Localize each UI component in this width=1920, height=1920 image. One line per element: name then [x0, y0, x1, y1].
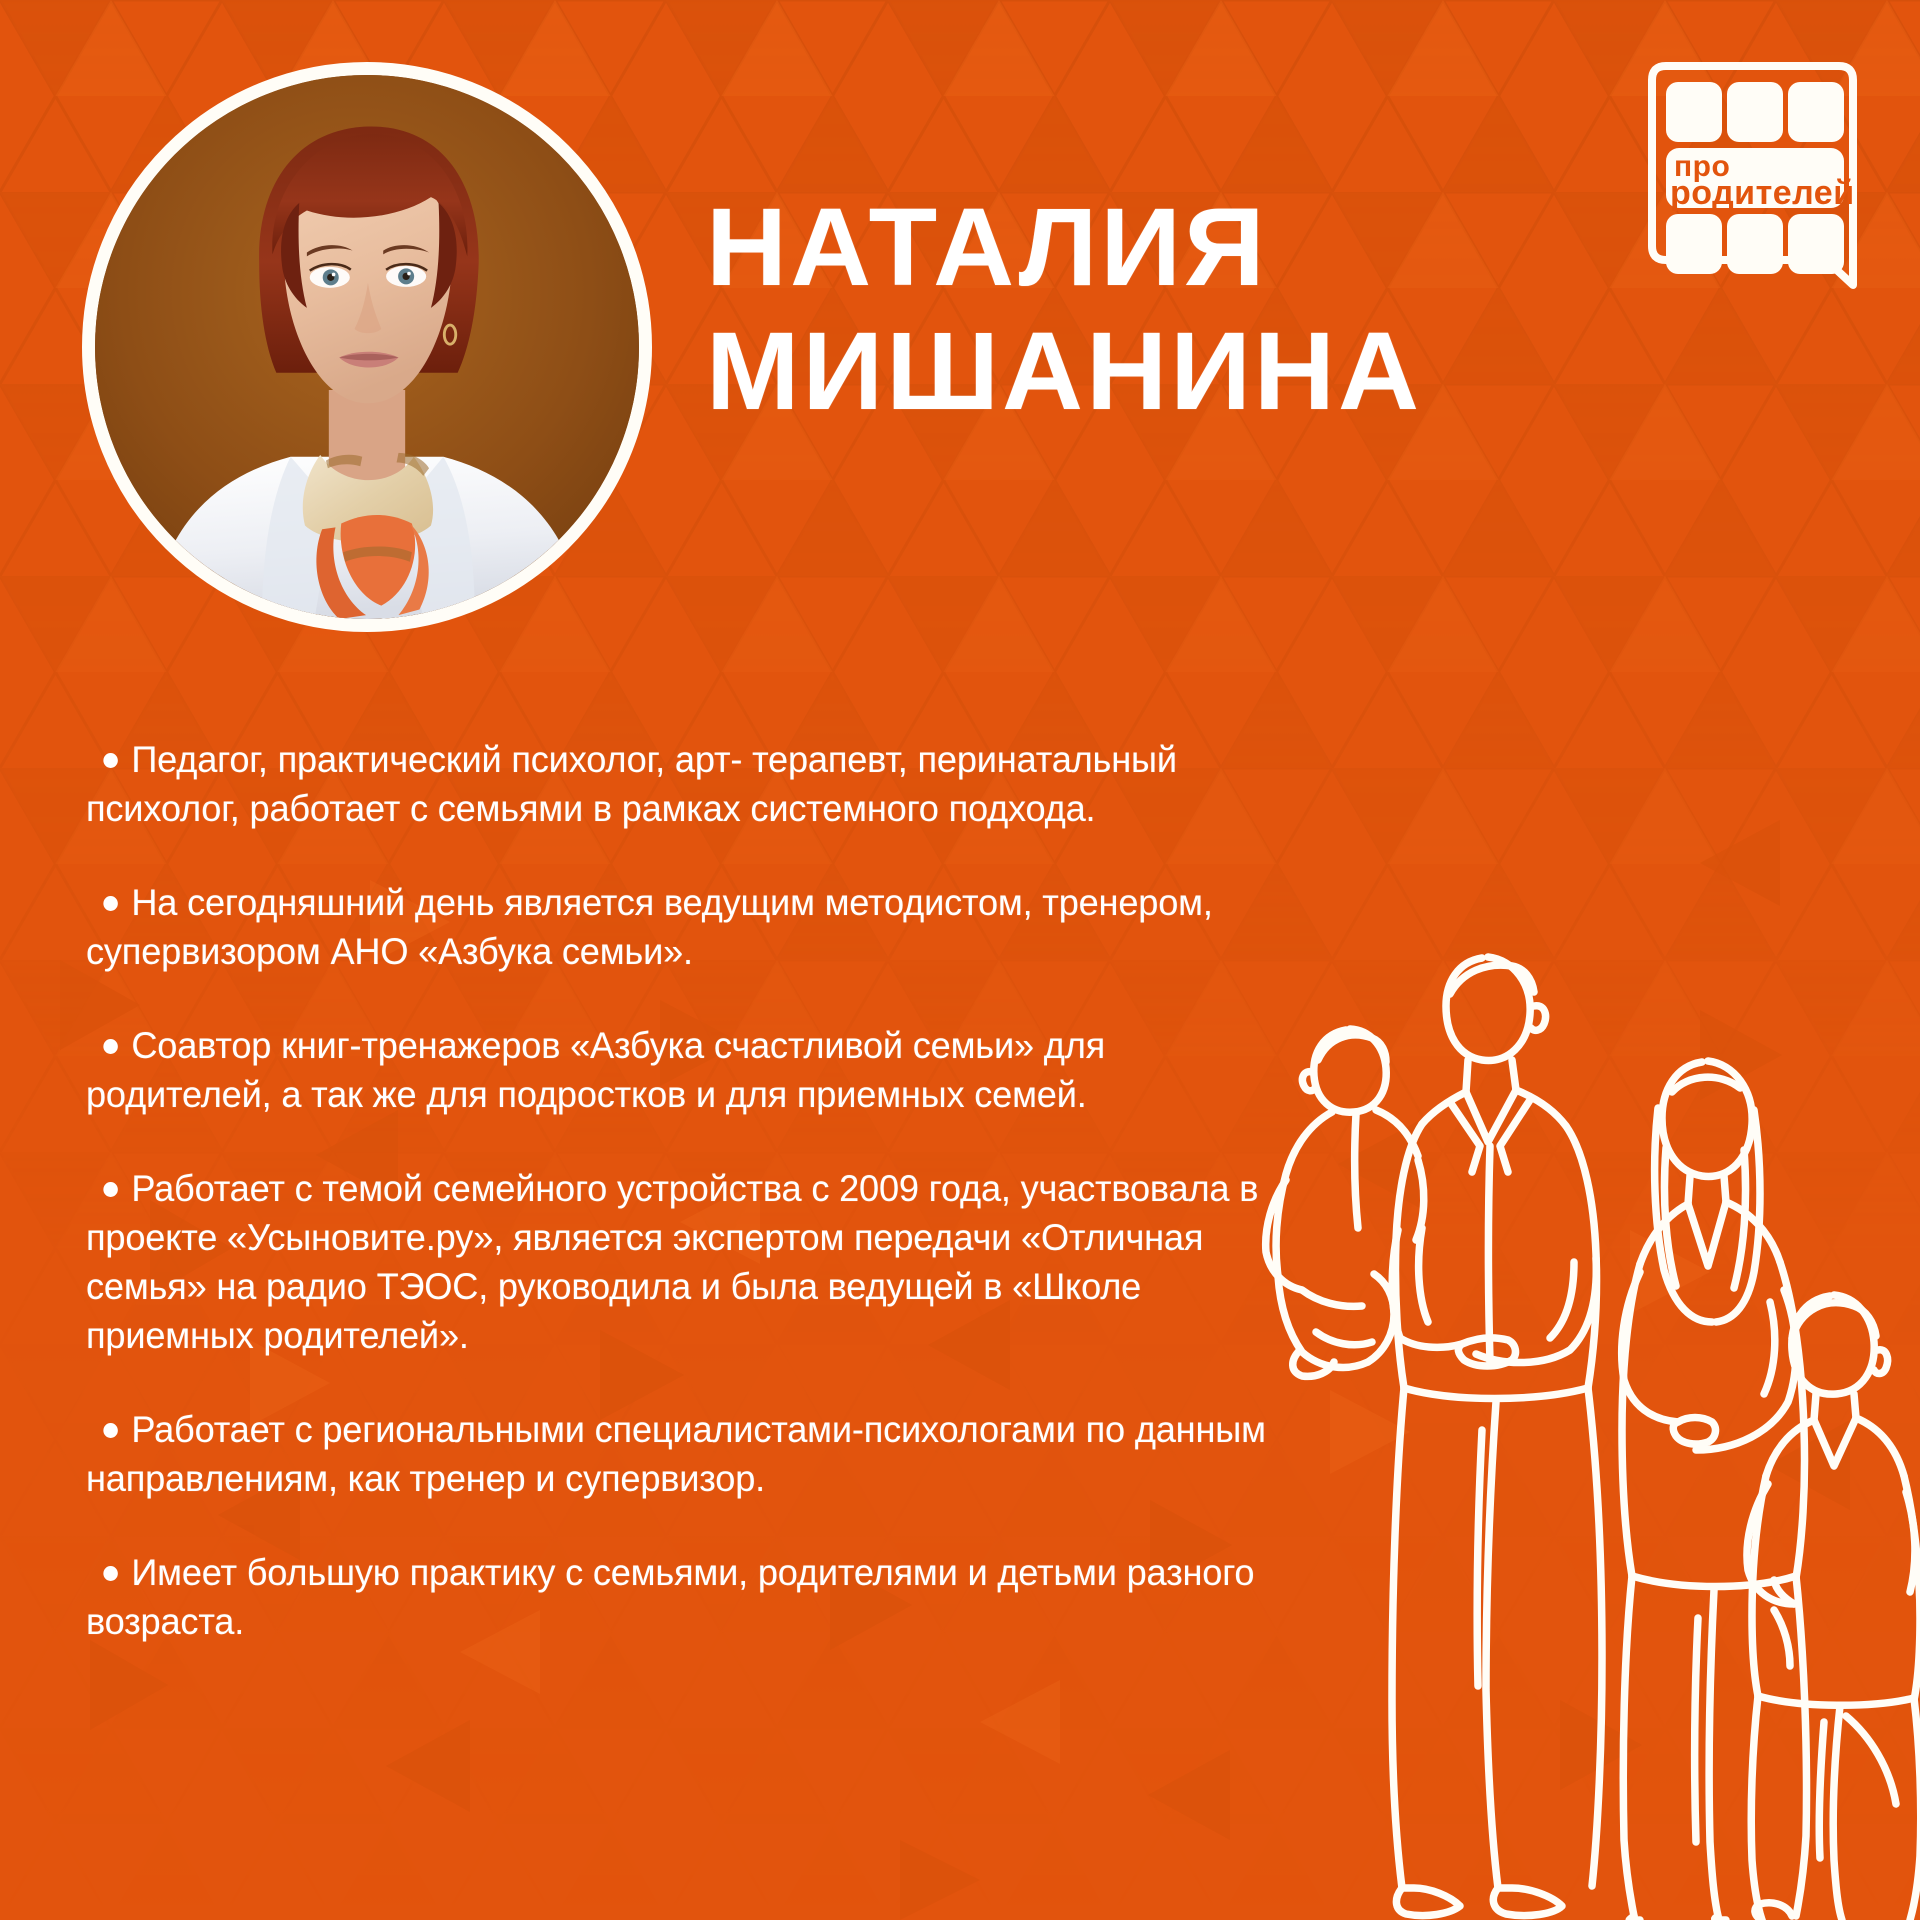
list-item-text: Работает с темой семейного устройства с …: [86, 1167, 1258, 1356]
bio-list: Педагог, практический психолог, арт- тер…: [86, 735, 1316, 1646]
list-item: На сегодняшний день является ведущим мет…: [86, 878, 1273, 976]
bullet-dot-icon: [103, 753, 117, 768]
bullet-dot-icon: [103, 896, 117, 911]
pro-roditelej-logo[interactable]: про родителей: [1640, 60, 1865, 295]
list-item-text: Работает с региональными специалистами-п…: [86, 1408, 1266, 1499]
last-name: МИШАНИНА: [706, 310, 1542, 434]
avatar-ring: [82, 62, 652, 632]
list-item: Имеет большую практику с семьями, родите…: [86, 1548, 1273, 1646]
list-item-text: Педагог, практический психолог, арт- тер…: [86, 738, 1177, 829]
bullet-dot-icon: [103, 1566, 117, 1581]
list-item: Педагог, практический психолог, арт- тер…: [86, 735, 1273, 833]
avatar: [82, 62, 652, 632]
bullet-dot-icon: [103, 1182, 117, 1197]
page-title: НАТАЛИЯ МИШАНИНА: [706, 186, 1542, 434]
portrait-photo: [95, 75, 639, 619]
bullet-dot-icon: [103, 1039, 117, 1054]
list-item: Работает с темой семейного устройства с …: [86, 1164, 1273, 1360]
logo-line-2: родителей: [1670, 174, 1855, 212]
bullet-dot-icon: [103, 1423, 117, 1438]
list-item-text: Соавтор книг-тренажеров «Азбука счастлив…: [86, 1024, 1105, 1115]
list-item-text: На сегодняшний день является ведущим мет…: [86, 881, 1213, 972]
list-item-text: Имеет большую практику с семьями, родите…: [86, 1551, 1254, 1642]
list-item: Работает с региональными специалистами-п…: [86, 1405, 1273, 1503]
first-name: НАТАЛИЯ: [706, 186, 1542, 310]
list-item: Соавтор книг-тренажеров «Азбука счастлив…: [86, 1021, 1273, 1119]
